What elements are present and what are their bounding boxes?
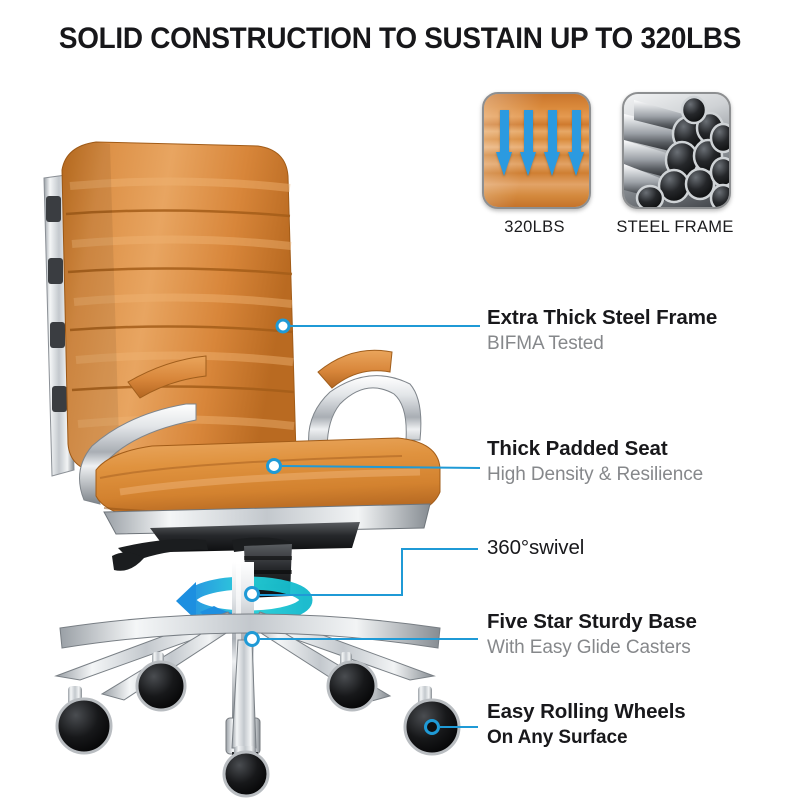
callout-title: Five Star Sturdy Base	[487, 610, 697, 634]
infographic-canvas: SOLID CONSTRUCTION TO SUSTAIN UP TO 320L…	[0, 0, 800, 800]
steel-frame-badge: STEEL FRAME	[622, 92, 727, 237]
callout-five-star-sturdy-base[interactable]: Five Star Sturdy Base With Easy Glide Ca…	[487, 610, 697, 660]
callout-extra-thick-steel-frame[interactable]: Extra Thick Steel Frame BIFMA Tested	[487, 306, 717, 356]
callout-subtitle: With Easy Glide Casters	[487, 637, 697, 660]
badge-caption: 320LBS	[482, 218, 587, 237]
callout-thick-padded-seat[interactable]: Thick Padded Seat High Density & Resilie…	[487, 437, 703, 487]
badge-caption: STEEL FRAME	[600, 218, 750, 237]
down-arrows-on-leather-icon	[482, 92, 591, 209]
callout-subtitle: On Any Surface	[487, 727, 686, 750]
chair-backrest	[62, 142, 296, 482]
callout-swivel[interactable]: 360°swivel	[487, 536, 584, 560]
caster-wheel	[405, 686, 459, 754]
callout-title: Extra Thick Steel Frame	[487, 306, 717, 330]
caster-wheel	[57, 686, 111, 753]
steel-tubes-icon	[622, 92, 731, 209]
feature-badges: 320LBS	[482, 92, 782, 257]
callout-title: Easy Rolling Wheels	[487, 700, 686, 724]
callout-subtitle: High Density & Resilience	[487, 464, 703, 487]
callout-title: Thick Padded Seat	[487, 437, 703, 461]
weight-capacity-badge: 320LBS	[482, 92, 587, 237]
chair-five-star-base	[56, 612, 440, 748]
callout-easy-rolling-wheels[interactable]: Easy Rolling Wheels On Any Surface	[487, 700, 686, 750]
callout-title: 360°swivel	[487, 536, 584, 560]
callout-subtitle: BIFMA Tested	[487, 333, 717, 356]
